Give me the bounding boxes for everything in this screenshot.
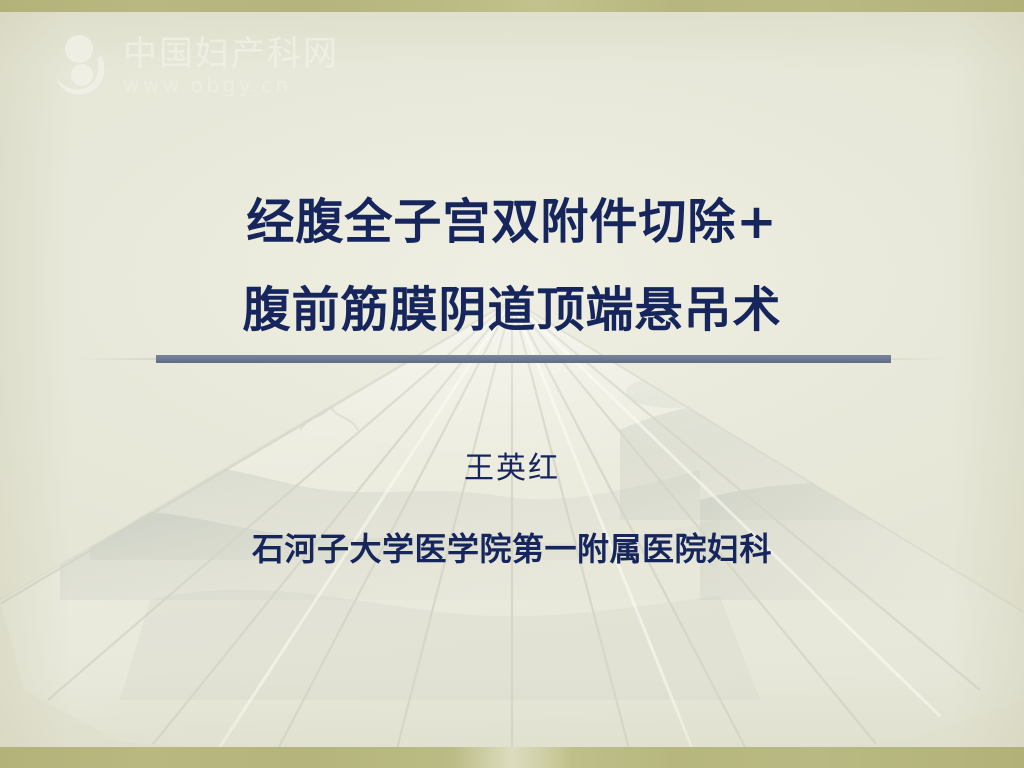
- mother-and-child-logo-icon: [52, 33, 114, 99]
- title-line-1: 经腹全子宫双附件切除+: [0, 178, 1024, 266]
- divider-bar: [156, 355, 891, 363]
- watermark: 中国妇产科网 www.obgy.cn: [52, 33, 339, 99]
- presenter-affiliation: 石河子大学医学院第一附属医院妇科: [0, 524, 1024, 570]
- title-divider: [72, 355, 952, 363]
- watermark-site-url: www.obgy.cn: [123, 75, 339, 95]
- watermark-site-name: 中国妇产科网: [123, 37, 339, 71]
- top-accent-band: [0, 0, 1024, 12]
- bottom-accent-band: [0, 747, 1024, 768]
- presentation-slide: 中国妇产科网 www.obgy.cn 经腹全子宫双附件切除+ 腹前筋膜阴道顶端悬…: [0, 0, 1024, 768]
- slide-background: [0, 0, 1024, 768]
- title-line-2: 腹前筋膜阴道顶端悬吊术: [0, 266, 1024, 354]
- presenter-name: 王英红: [0, 443, 1024, 487]
- slide-title: 经腹全子宫双附件切除+ 腹前筋膜阴道顶端悬吊术: [0, 178, 1024, 354]
- watermark-text: 中国妇产科网 www.obgy.cn: [123, 37, 339, 95]
